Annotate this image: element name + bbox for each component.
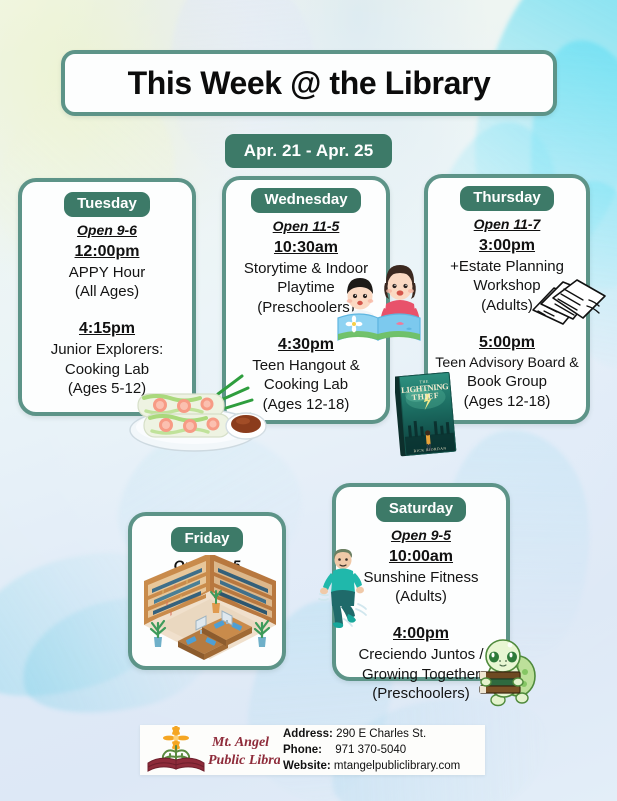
- website-label: Website:: [283, 760, 331, 772]
- event-thursday-2: 5:00pm Teen Advisory Board & Book Group …: [428, 332, 586, 412]
- event-time: 5:00pm: [428, 332, 586, 354]
- event-line: Creciendo Juntos /: [336, 645, 506, 665]
- event-line: (Adults): [428, 296, 586, 316]
- spacer: [336, 607, 506, 622]
- event-line: (All Ages): [22, 282, 192, 302]
- spacer: [428, 316, 586, 331]
- day-card-thursday: Thursday Open 11-7 3:00pm +Estate Planni…: [424, 174, 590, 424]
- day-badge-thursday: Thursday: [460, 186, 554, 211]
- event-line: Cooking Lab: [22, 360, 192, 380]
- event-line: Growing Together: [336, 665, 506, 685]
- contact-website-row: Website: mtangelpubliclibrary.com: [283, 758, 485, 774]
- svg-text:Mt. Angel: Mt. Angel: [211, 735, 269, 750]
- event-line: (Ages 12-18): [428, 392, 586, 412]
- event-line: (Ages 12-18): [226, 395, 386, 415]
- event-time: 10:30am: [226, 237, 386, 259]
- event-time: 4:00pm: [336, 623, 506, 645]
- event-line: Junior Explorers:: [22, 340, 192, 360]
- day-card-tuesday: Tuesday Open 9-6 12:00pm APPY Hour (All …: [18, 178, 196, 416]
- event-time: 12:00pm: [22, 241, 192, 263]
- library-contact-info: Address: 290 E Charles St. Phone: 971 37…: [280, 726, 485, 775]
- event-line: (Ages 5-12): [22, 379, 192, 399]
- event-line: (Adults): [336, 587, 506, 607]
- poster-canvas: This Week @ the Library Apr. 21 - Apr. 2…: [0, 0, 617, 801]
- poster-title-box: This Week @ the Library: [61, 50, 557, 116]
- event-saturday-1: 10:00am Sunshine Fitness (Adults): [336, 546, 506, 607]
- svg-text:Public Library: Public Library: [208, 753, 280, 768]
- day-card-friday: Friday Open 11-5: [128, 512, 286, 670]
- event-saturday-2: 4:00pm Creciendo Juntos / Growing Togeth…: [336, 623, 506, 704]
- contact-address-row: Address: 290 E Charles St.: [283, 726, 485, 742]
- day-card-saturday: Saturday Open 9-5 10:00am Sunshine Fitne…: [332, 483, 510, 681]
- website-value[interactable]: mtangelpubliclibrary.com: [334, 760, 460, 772]
- spacer: [226, 318, 386, 333]
- event-line: Book Group: [428, 372, 586, 392]
- date-range-badge: Apr. 21 - Apr. 25: [225, 134, 392, 168]
- day-badge-tuesday: Tuesday: [64, 192, 150, 217]
- event-line: Cooking Lab: [226, 375, 386, 395]
- event-tuesday-1: 12:00pm APPY Hour (All Ages): [22, 241, 192, 302]
- hours-wednesday: Open 11-5: [226, 216, 386, 236]
- hours-tuesday: Open 9-6: [22, 220, 192, 240]
- hours-thursday: Open 11-7: [428, 214, 586, 234]
- day-badge-wednesday: Wednesday: [251, 188, 360, 213]
- event-wednesday-2: 4:30pm Teen Hangout & Cooking Lab (Ages …: [226, 334, 386, 415]
- day-card-wednesday: Wednesday Open 11-5 10:30am Storytime & …: [222, 176, 390, 424]
- day-badge-friday: Friday: [171, 527, 242, 552]
- event-line: Teen Hangout &: [226, 356, 386, 376]
- page-title: This Week @ the Library: [128, 65, 491, 102]
- event-tuesday-2: 4:15pm Junior Explorers: Cooking Lab (Ag…: [22, 318, 192, 399]
- event-time: 3:00pm: [428, 235, 586, 257]
- event-thursday-1: 3:00pm +Estate Planning Workshop (Adults…: [428, 235, 586, 316]
- day-badge-saturday: Saturday: [376, 497, 466, 522]
- event-line: (Preschoolers): [226, 298, 386, 318]
- event-line: Workshop: [428, 276, 586, 296]
- event-wednesday-1: 10:30am Storytime & Indoor Playtime (Pre…: [226, 237, 386, 318]
- phone-value: 971 370-5040: [325, 744, 406, 756]
- event-time: 4:30pm: [226, 334, 386, 356]
- event-line: +Estate Planning: [428, 257, 586, 277]
- event-line: APPY Hour: [22, 263, 192, 283]
- event-line: Sunshine Fitness: [336, 568, 506, 588]
- event-line: Playtime: [226, 278, 386, 298]
- event-line: Teen Advisory Board &: [428, 354, 586, 373]
- library-logo: Mt. Angel Public Library: [140, 726, 280, 774]
- hours-friday: Open 11-5: [132, 555, 282, 575]
- address-label: Address:: [283, 728, 333, 740]
- event-line: Storytime & Indoor: [226, 259, 386, 279]
- contact-phone-row: Phone: 971 370-5040: [283, 742, 485, 758]
- event-line: (Preschoolers): [336, 684, 506, 704]
- event-time: 10:00am: [336, 546, 506, 568]
- spacer: [22, 302, 192, 317]
- footer-contact-bar: Mt. Angel Public Library Address: 290 E …: [140, 725, 485, 775]
- hours-saturday: Open 9-5: [336, 525, 506, 545]
- address-value: 290 E Charles St.: [336, 728, 426, 740]
- event-time: 4:15pm: [22, 318, 192, 340]
- phone-label: Phone:: [283, 744, 322, 756]
